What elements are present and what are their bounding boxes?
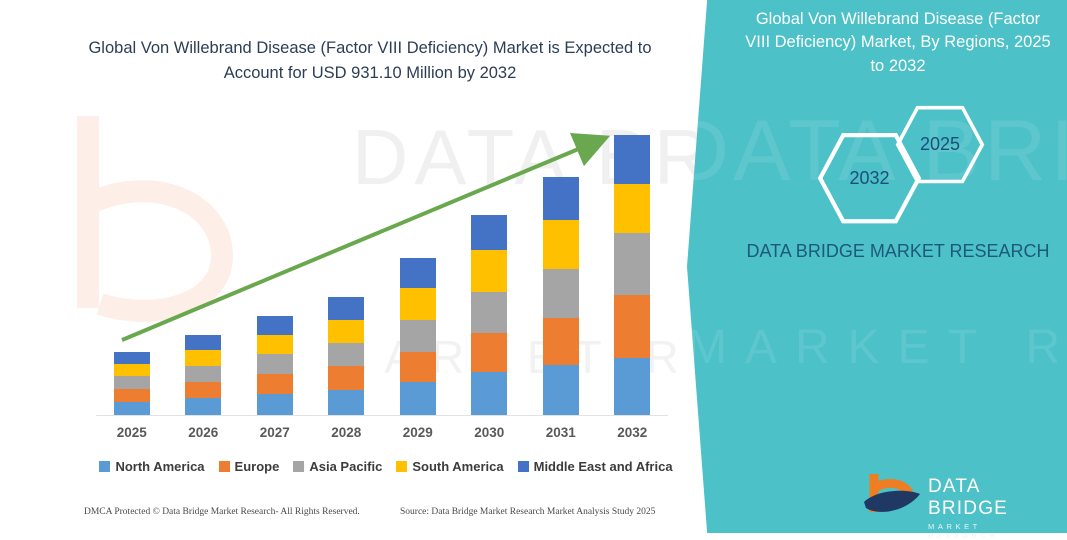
bar-segment-south-america xyxy=(471,250,507,292)
chart-legend: North AmericaEuropeAsia PacificSouth Ame… xyxy=(96,455,676,477)
bar-segment-north-america xyxy=(257,394,293,415)
logo-name: DATA BRIDGE xyxy=(928,476,1052,520)
bar-segment-middle-east-and-africa xyxy=(328,297,364,320)
legend-swatch-icon xyxy=(99,461,110,472)
bar-segment-north-america xyxy=(328,390,364,415)
bar-2025 xyxy=(114,352,150,415)
x-axis-label-2028: 2028 xyxy=(310,425,382,440)
bar-segment-south-america xyxy=(328,320,364,343)
bar-segment-europe xyxy=(614,295,650,358)
x-axis-label-2029: 2029 xyxy=(382,425,454,440)
bar-2029 xyxy=(400,258,436,415)
legend-swatch-icon xyxy=(219,461,230,472)
footer: DMCA Protected © Data Bridge Market Rese… xyxy=(0,505,700,525)
teal-watermark-bottom: MARKET RESEARCH xyxy=(687,320,1067,375)
bar-segment-north-america xyxy=(614,358,650,415)
bar-2026 xyxy=(185,335,221,415)
company-logo: DATA BRIDGE MARKET RESEARCH xyxy=(862,470,1052,520)
x-axis-label-2032: 2032 xyxy=(596,425,668,440)
bar-segment-middle-east-and-africa xyxy=(400,258,436,288)
bar-2031 xyxy=(543,177,579,415)
logo-text: DATA BRIDGE MARKET RESEARCH xyxy=(928,476,1052,540)
bar-2028 xyxy=(328,297,364,415)
growth-arrow xyxy=(0,0,700,533)
hexagon-start-year-label: 2025 xyxy=(920,134,960,155)
bar-segment-south-america xyxy=(114,364,150,376)
legend-item-south-america[interactable]: South America xyxy=(396,459,503,474)
infographic-root: DATA BRIDGE MARKET RESEARCH Global Von W… xyxy=(0,0,1067,533)
bar-segment-north-america xyxy=(114,402,150,415)
bar-segment-europe xyxy=(257,374,293,394)
bar-segment-europe xyxy=(543,318,579,365)
bar-segment-asia-pacific xyxy=(328,343,364,366)
logo-tagline: MARKET RESEARCH xyxy=(928,522,1052,540)
bar-segment-asia-pacific xyxy=(471,292,507,333)
footer-source: Source: Data Bridge Market Research Mark… xyxy=(400,507,655,517)
bar-segment-europe xyxy=(185,382,221,398)
bar-segment-south-america xyxy=(185,350,221,366)
legend-label: South America xyxy=(412,459,503,474)
bar-segment-north-america xyxy=(400,382,436,415)
bar-segment-europe xyxy=(471,333,507,372)
bar-segment-middle-east-and-africa xyxy=(185,335,221,350)
legend-label: Asia Pacific xyxy=(309,459,382,474)
bar-segment-asia-pacific xyxy=(257,354,293,374)
logo-mark-icon xyxy=(862,472,924,518)
hexagon-group: 2025 2032 xyxy=(687,100,1067,210)
panel-title: Global Von Willebrand Disease (Factor VI… xyxy=(743,8,1053,78)
bar-segment-middle-east-and-africa xyxy=(257,316,293,335)
legend-swatch-icon xyxy=(396,461,407,472)
bar-segment-north-america xyxy=(471,372,507,415)
bar-segment-middle-east-and-africa xyxy=(114,352,150,364)
legend-item-asia-pacific[interactable]: Asia Pacific xyxy=(293,459,382,474)
legend-item-europe[interactable]: Europe xyxy=(219,459,280,474)
bar-segment-asia-pacific xyxy=(185,366,221,382)
bar-segment-asia-pacific xyxy=(114,376,150,389)
legend-item-north-america[interactable]: North America xyxy=(99,459,204,474)
legend-label: Middle East and Africa xyxy=(534,459,673,474)
x-axis-label-2025: 2025 xyxy=(96,425,168,440)
panel-brand-name: DATA BRIDGE MARKET RESEARCH xyxy=(743,238,1053,266)
legend-item-middle-east-and-africa[interactable]: Middle East and Africa xyxy=(518,459,673,474)
footer-copyright: DMCA Protected © Data Bridge Market Rese… xyxy=(84,507,360,517)
bar-segment-asia-pacific xyxy=(543,269,579,318)
bar-segment-middle-east-and-africa xyxy=(543,177,579,220)
legend-swatch-icon xyxy=(518,461,529,472)
hexagon-end-year-label: 2032 xyxy=(849,168,889,189)
bar-segment-north-america xyxy=(185,398,221,415)
bar-segment-south-america xyxy=(400,288,436,320)
bar-segment-north-america xyxy=(543,365,579,415)
x-axis-label-2031: 2031 xyxy=(525,425,597,440)
legend-swatch-icon xyxy=(293,461,304,472)
bar-segment-europe xyxy=(114,389,150,402)
bar-2027 xyxy=(257,316,293,415)
bar-2030 xyxy=(471,215,507,415)
bar-segment-south-america xyxy=(257,335,293,354)
x-axis-label-2030: 2030 xyxy=(453,425,525,440)
bar-segment-asia-pacific xyxy=(614,233,650,295)
bar-segment-europe xyxy=(328,366,364,390)
chart-baseline xyxy=(96,415,668,416)
x-axis-label-2027: 2027 xyxy=(239,425,311,440)
bar-segment-south-america xyxy=(614,184,650,233)
bar-segment-south-america xyxy=(543,220,579,269)
bar-segment-middle-east-and-africa xyxy=(614,135,650,184)
bar-segment-europe xyxy=(400,352,436,382)
bar-segment-asia-pacific xyxy=(400,320,436,352)
legend-label: Europe xyxy=(235,459,280,474)
right-teal-panel: DATA BRIDGE MARKET RESEARCH Global Von W… xyxy=(687,0,1067,533)
bar-segment-middle-east-and-africa xyxy=(471,215,507,250)
bar-2032 xyxy=(614,135,650,415)
legend-label: North America xyxy=(115,459,204,474)
x-axis-labels: 20252026202720282029203020312032 xyxy=(96,425,668,447)
hexagon-end-year: 2032 xyxy=(817,132,922,224)
chart-plot-area: 20252026202720282029203020312032 North A… xyxy=(0,0,700,533)
x-axis-label-2026: 2026 xyxy=(167,425,239,440)
